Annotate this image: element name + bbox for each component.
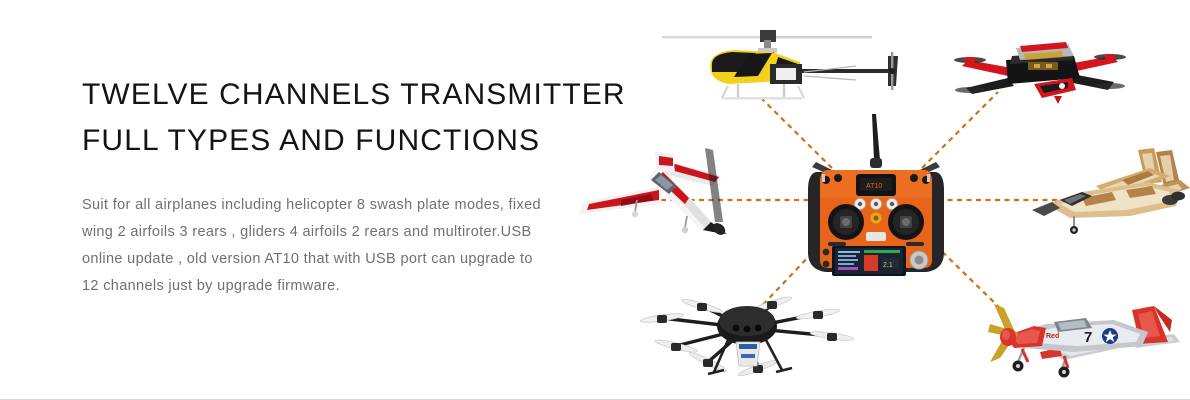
rc-transmitter[interactable]: AT10 (802, 112, 950, 284)
plane-main-wing (579, 186, 663, 214)
helicopter-frame (770, 64, 802, 84)
transmitter-status-display: AT10 (856, 174, 896, 196)
product-aerobatic-plane (563, 142, 753, 242)
transmitter-antenna (870, 114, 882, 168)
headline-primary: TWELVE CHANNELS TRANSMITTER (82, 72, 572, 118)
warbird-propeller (988, 304, 1018, 362)
transmitter-model-label: AT10 (866, 183, 882, 190)
transmitter-center-knob[interactable] (870, 212, 882, 224)
transmitter-right-gimbal[interactable] (888, 204, 924, 240)
svg-text:Red: Red (1046, 333, 1059, 340)
headline-secondary: FULL TYPES AND FUNCTIONS (82, 118, 572, 164)
product-warbird-mustang: 7 Red (988, 286, 1188, 386)
octocopter-hub (717, 306, 777, 345)
jet-landing-gear (1070, 216, 1078, 234)
product-racing-quadcopter (950, 26, 1130, 116)
product-banner: TWELVE CHANNELS TRANSMITTER FULL TYPES A… (0, 0, 1190, 400)
transmitter-left-gimbal[interactable] (828, 204, 864, 240)
transmitter-lcd-screen[interactable]: 2.1 (832, 246, 906, 276)
svg-text:7: 7 (1084, 329, 1092, 346)
plane-propeller (705, 148, 723, 222)
octocopter-payload-tank (736, 342, 760, 366)
quadcopter-electronics (1028, 62, 1058, 70)
transmitter-scroll-wheel[interactable] (910, 251, 928, 269)
svg-text:2.1: 2.1 (883, 262, 893, 269)
description-paragraph: Suit for all airplanes including helicop… (82, 192, 552, 300)
text-column: TWELVE CHANNELS TRANSMITTER FULL TYPES A… (82, 72, 572, 300)
helicopter-tail-rotor (888, 52, 898, 90)
product-montage: 7 Red (560, 0, 1190, 400)
quadcopter-camera-pod (1034, 78, 1076, 104)
transmitter-function-buttons[interactable] (855, 199, 898, 210)
product-octocopter-drone (640, 288, 855, 380)
helicopter-landing-skids (722, 84, 804, 100)
product-rc-helicopter (652, 24, 912, 124)
product-fighter-jet (1030, 142, 1190, 242)
